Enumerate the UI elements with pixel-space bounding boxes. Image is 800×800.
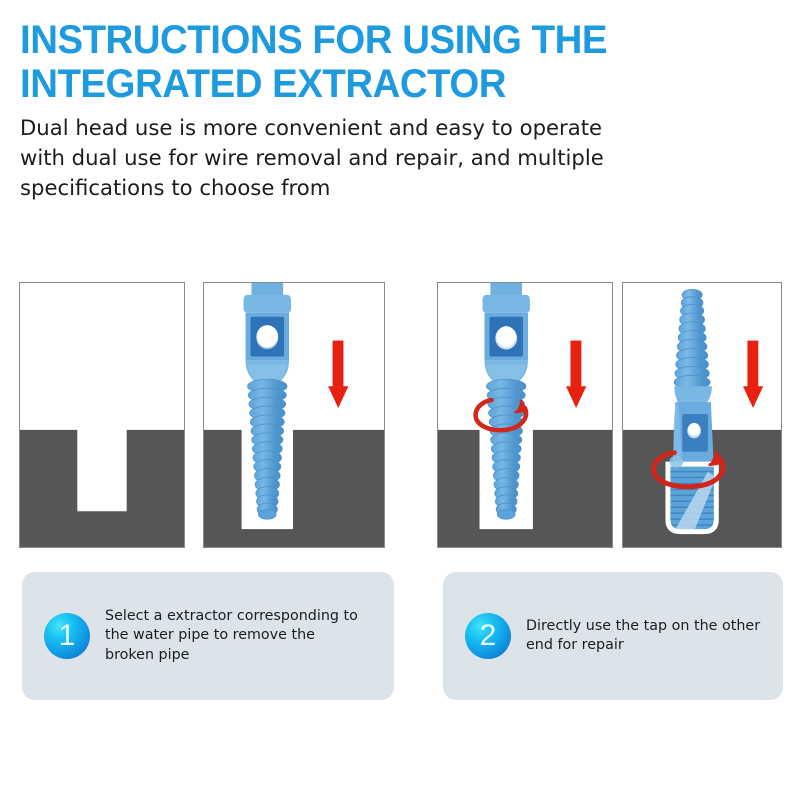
tap-repair-graphic: [623, 283, 781, 547]
step-badge-1: 1: [44, 613, 90, 659]
illustration-strip: [0, 282, 800, 548]
illustration-panel-extractor-rotating: [437, 282, 613, 548]
step-badge-2: 2: [465, 613, 511, 659]
step-card-1: 1 Select a extractor corresponding to th…: [22, 572, 394, 700]
illustration-panel-tap-repair: [622, 282, 782, 548]
illustration-panel-broken-pipe-hole: [19, 282, 185, 548]
step-card-2: 2 Directly use the tap on the other end …: [443, 572, 783, 700]
step-number-1: 1: [59, 621, 76, 651]
page-title: INSTRUCTIONS FOR USING THE INTEGRATED EX…: [20, 18, 757, 106]
illustration-panel-extractor-inserted: [203, 282, 385, 548]
extractor-rotating-graphic: [438, 283, 612, 547]
page-subtitle: Dual head use is more convenient and eas…: [20, 114, 776, 204]
step-number-2: 2: [480, 621, 497, 651]
step-text-2: Directly use the tap on the other end fo…: [526, 617, 760, 656]
step-text-1: Select a extractor corresponding to the …: [105, 607, 358, 666]
heading-block: INSTRUCTIONS FOR USING THE INTEGRATED EX…: [20, 18, 788, 204]
broken-pipe-hole-graphic: [20, 283, 184, 547]
extractor-inserted-graphic: [204, 283, 384, 547]
